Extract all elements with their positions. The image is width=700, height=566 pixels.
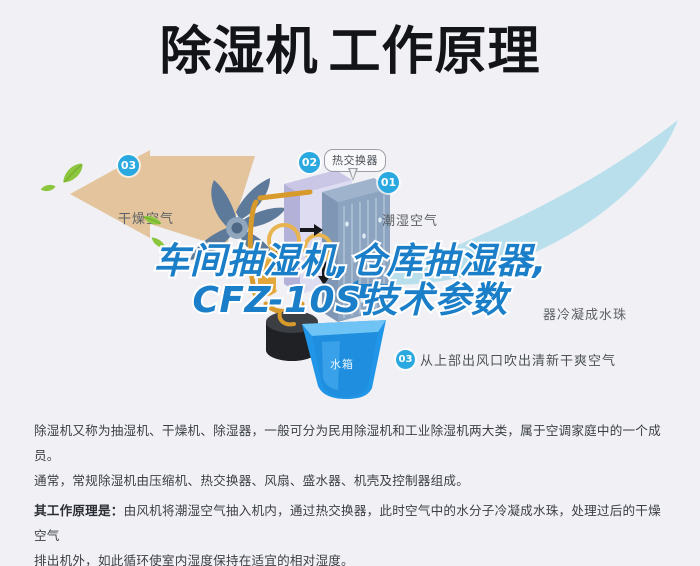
label-humid-air: 潮湿空气 [382, 210, 438, 229]
paragraph-2-line-1: 由风机将潮湿空气抽入机内，通过热交换器，此时空气中的水分子冷凝成水珠，处理过后的… [34, 503, 661, 543]
caption-blow-out: 从上部出风口吹出清新干爽空气 [420, 350, 616, 369]
badge-heat-exchanger: 02 [299, 152, 320, 173]
caption-condensation: 器冷凝成水珠 [543, 304, 627, 323]
page-root: 除湿机工作原理 03 干燥空气 [0, 0, 700, 566]
leaf-icon [40, 183, 56, 195]
working-principle-diagram: 03 干燥空气 [0, 110, 700, 410]
page-title: 除湿机工作原理 [0, 26, 700, 78]
badge-dry-air: 03 [118, 155, 139, 176]
paragraph-1-line-1: 除湿机又称为抽湿机、干燥机、除湿器，一般可分为民用除湿机和工业除湿机两大类，属于… [34, 423, 661, 463]
humid-air-inflow-arrow-icon [340, 280, 394, 302]
paragraph-1: 除湿机又称为抽湿机、干燥机、除湿器，一般可分为民用除湿机和工业除湿机两大类，属于… [34, 418, 668, 494]
paragraph-2-line-2: 排出机外，如此循环使室内湿度保持在适宜的相对湿度。 [34, 553, 354, 566]
paragraph-1-line-2: 通常，常规除湿机由压缩机、热交换器、风扇、盛水器、机壳及控制器组成。 [34, 473, 469, 488]
badge-humid-air: 01 [378, 172, 399, 193]
body-copy: 除湿机又称为抽湿机、干燥机、除湿器，一般可分为民用除湿机和工业除湿机两大类，属于… [34, 418, 668, 566]
title-part-primary: 除湿机 [159, 26, 318, 78]
paragraph-2: 其工作原理是：由风机将潮湿空气抽入机内，通过热交换器，此时空气中的水分子冷凝成水… [34, 498, 668, 566]
label-water-tank: 水箱 [330, 356, 354, 372]
paragraph-2-lead: 其工作原理是： [34, 503, 124, 518]
callout-tail-icon [348, 168, 358, 181]
title-part-secondary: 工作原理 [329, 26, 541, 78]
badge-blow-out: 03 [396, 350, 415, 369]
